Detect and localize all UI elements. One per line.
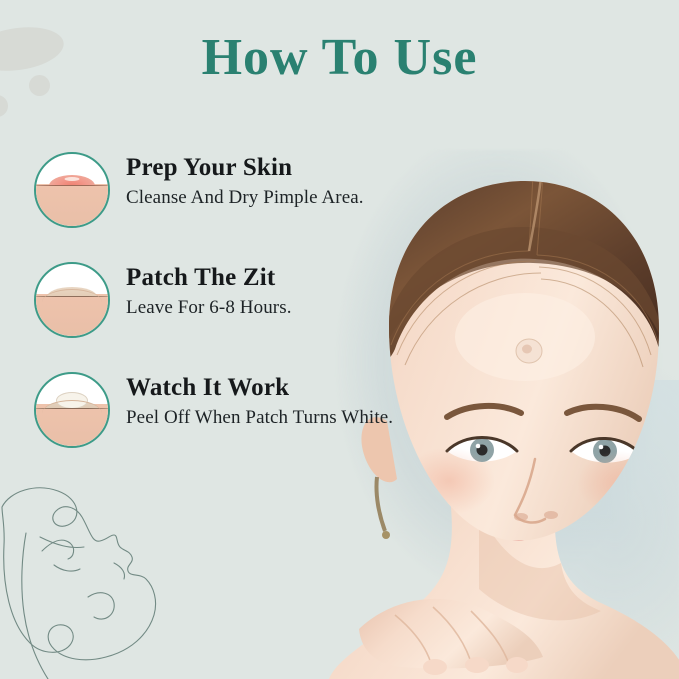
step-description: Peel Off When Patch Turns White. [126, 406, 434, 430]
step-title: Prep Your Skin [126, 154, 434, 182]
single-line-face-profile-illustration [0, 485, 211, 679]
step-item-1: Prep Your Skin Cleanse And Dry Pimple Ar… [34, 150, 434, 234]
steps-list: Prep Your Skin Cleanse And Dry Pimple Ar… [34, 150, 434, 480]
inflamed-pimple-icon [34, 152, 110, 228]
decorative-blob-tiny [0, 95, 8, 117]
step-description: Leave For 6-8 Hours. [126, 296, 434, 320]
step-title: Patch The Zit [126, 264, 434, 292]
patch-turned-white-icon [34, 372, 110, 448]
step-description: Cleanse And Dry Pimple Area. [126, 186, 434, 210]
step-item-2: Patch The Zit Leave For 6-8 Hours. [34, 260, 434, 344]
page-title: How To Use [0, 28, 679, 87]
how-to-use-infographic: How To Use Prep Your Skin Cleanse And Dr… [0, 0, 679, 679]
patch-applied-icon [34, 262, 110, 338]
step-title: Watch It Work [126, 374, 434, 402]
step-item-3: Watch It Work Peel Off When Patch Turns … [34, 370, 434, 454]
